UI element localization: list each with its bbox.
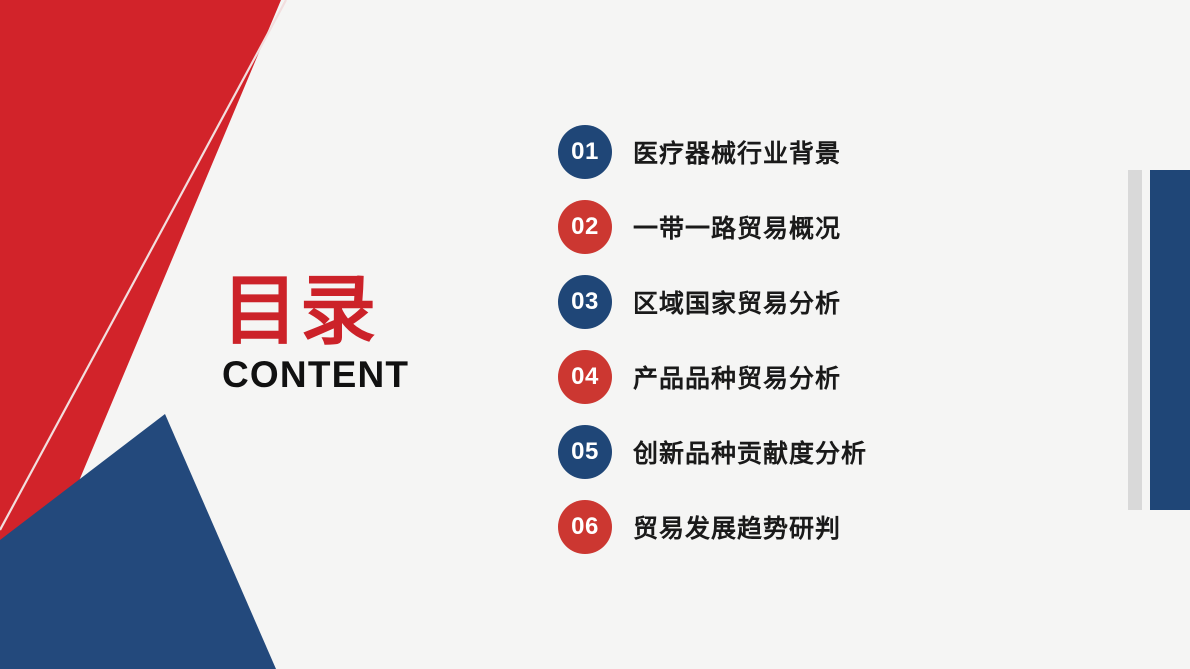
list-item-label: 贸易发展趋势研判 — [633, 509, 841, 545]
blue-triangle-shape — [0, 414, 276, 669]
list-item[interactable]: 02 一带一路贸易概况 — [558, 199, 1038, 255]
gray-accent-bar — [1128, 170, 1142, 510]
page-title-english: CONTENT — [222, 354, 562, 396]
list-item-label: 创新品种贡献度分析 — [633, 434, 867, 470]
table-of-contents-list: 01 医疗器械行业背景 02 一带一路贸易概况 03 区域国家贸易分析 04 产… — [558, 124, 1038, 555]
list-item[interactable]: 06 贸易发展趋势研判 — [558, 499, 1038, 555]
right-edge-decoration — [1128, 170, 1190, 510]
page-title: 目录 CONTENT — [222, 272, 562, 396]
list-item-label: 一带一路贸易概况 — [633, 209, 841, 245]
slide-canvas: 目录 CONTENT 01 医疗器械行业背景 02 一带一路贸易概况 03 区域… — [0, 0, 1190, 669]
item-number-badge: 06 — [558, 500, 612, 554]
item-number-badge: 01 — [558, 125, 612, 179]
item-number-badge: 02 — [558, 200, 612, 254]
list-item[interactable]: 04 产品品种贸易分析 — [558, 349, 1038, 405]
item-number-badge: 05 — [558, 425, 612, 479]
blue-accent-bar — [1150, 170, 1190, 510]
list-item[interactable]: 01 医疗器械行业背景 — [558, 124, 1038, 180]
page-title-chinese: 目录 — [222, 272, 562, 352]
list-item-label: 产品品种贸易分析 — [633, 359, 841, 395]
list-item[interactable]: 03 区域国家贸易分析 — [558, 274, 1038, 330]
item-number-badge: 04 — [558, 350, 612, 404]
list-item-label: 区域国家贸易分析 — [633, 284, 841, 320]
list-item-label: 医疗器械行业背景 — [633, 134, 841, 170]
item-number-badge: 03 — [558, 275, 612, 329]
list-item[interactable]: 05 创新品种贡献度分析 — [558, 424, 1038, 480]
accent-diagonal-line — [0, 0, 286, 530]
